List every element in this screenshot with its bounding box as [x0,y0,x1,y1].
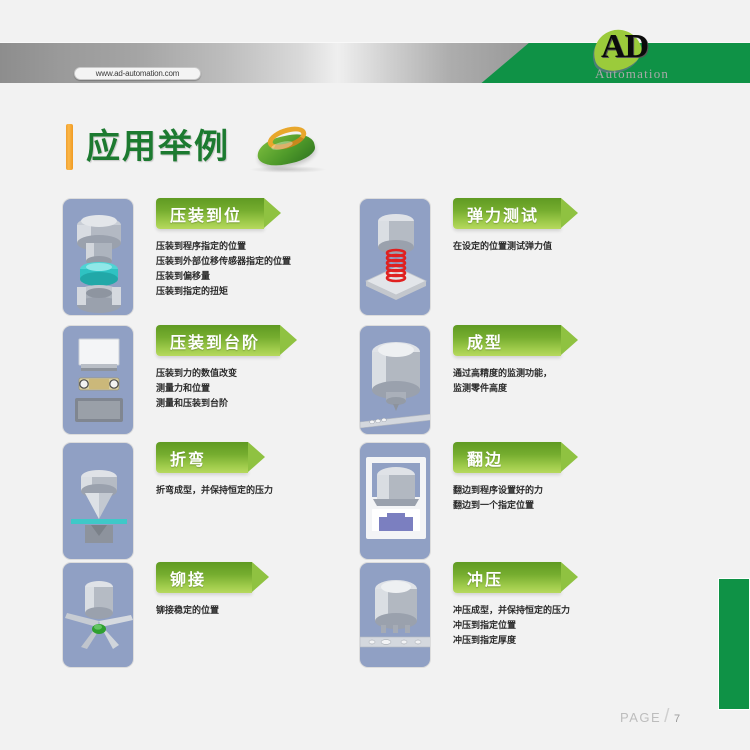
example-line: 压装到外部位移传感器指定的位置 [156,255,291,270]
example-banner-label-7: 铆接 [170,566,206,590]
press-fit-to-step-illustration [62,325,134,435]
example-lines-2: 在设定的位置测试弹力值 [453,240,552,255]
example-lines-7: 铆接稳定的位置 [156,604,219,619]
example-banner-label-3: 压装到台阶 [170,329,260,353]
bending-illustration [62,442,134,560]
page-number-value: 7 [674,713,682,725]
example-line: 通过高精度的监测功能， [453,367,552,382]
example-line: 冲压成型，并保持恒定的压力 [453,604,570,619]
example-line: 压装到程序指定的位置 [156,240,291,255]
example-banner-label-6: 翻边 [467,446,503,470]
example-line: 压装到指定的扭矩 [156,285,291,300]
riveting-illustration [62,562,134,668]
example-lines-4: 通过高精度的监测功能， 监测零件高度 [453,367,552,397]
page-number-footer: PAGE / 7 [620,706,682,728]
example-banner-label-2: 弹力测试 [467,202,539,226]
example-banner-label-4: 成型 [467,329,503,353]
example-line: 冲压到指定位置 [453,619,570,634]
example-banner-3[interactable]: 压装到台阶 [156,325,280,356]
example-banner-4[interactable]: 成型 [453,325,561,356]
example-banner-2[interactable]: 弹力测试 [453,198,561,229]
example-banner-5[interactable]: 折弯 [156,442,248,473]
example-line: 冲压到指定厚度 [453,634,570,649]
forming-illustration [359,325,431,435]
example-lines-5: 折弯成型，并保持恒定的压力 [156,484,273,499]
example-banner-label-8: 冲压 [467,566,503,590]
example-line: 测量力和位置 [156,382,237,397]
example-banner-7[interactable]: 铆接 [156,562,252,593]
application-examples-grid: 压装到位 压装到程序指定的位置 压装到外部位移传感器指定的位置 压装到偏移量 压… [0,0,750,750]
example-lines-3: 压装到力的数值改变 测量力和位置 测量和压装到台阶 [156,367,237,412]
example-line: 测量和压装到台阶 [156,397,237,412]
example-line: 折弯成型，并保持恒定的压力 [156,484,273,499]
example-lines-6: 翻边到程序设置好的力 翻边到一个指定位置 [453,484,543,514]
flanging-illustration [359,442,431,560]
example-line: 翻边到程序设置好的力 [453,484,543,499]
example-banner-label-1: 压装到位 [170,202,242,226]
example-banner-label-5: 折弯 [170,446,206,470]
press-fit-to-position-illustration [62,198,134,316]
brochure-page: www.ad-automation.com AD Automation 应用举例 [0,0,750,750]
example-lines-8: 冲压成型，并保持恒定的压力 冲压到指定位置 冲压到指定厚度 [453,604,570,649]
example-banner-6[interactable]: 翻边 [453,442,561,473]
example-line: 压装到偏移量 [156,270,291,285]
page-word-label: PAGE [620,710,661,725]
example-line: 监测零件高度 [453,382,552,397]
example-line: 铆接稳定的位置 [156,604,219,619]
spring-force-test-illustration [359,198,431,316]
example-lines-1: 压装到程序指定的位置 压装到外部位移传感器指定的位置 压装到偏移量 压装到指定的… [156,240,291,300]
example-banner-1[interactable]: 压装到位 [156,198,264,229]
footer-green-bar [718,578,750,710]
page-slash: / [664,706,671,728]
stamping-illustration [359,562,431,668]
example-line: 在设定的位置测试弹力值 [453,240,552,255]
example-banner-8[interactable]: 冲压 [453,562,561,593]
example-line: 压装到力的数值改变 [156,367,237,382]
example-line: 翻边到一个指定位置 [453,499,543,514]
